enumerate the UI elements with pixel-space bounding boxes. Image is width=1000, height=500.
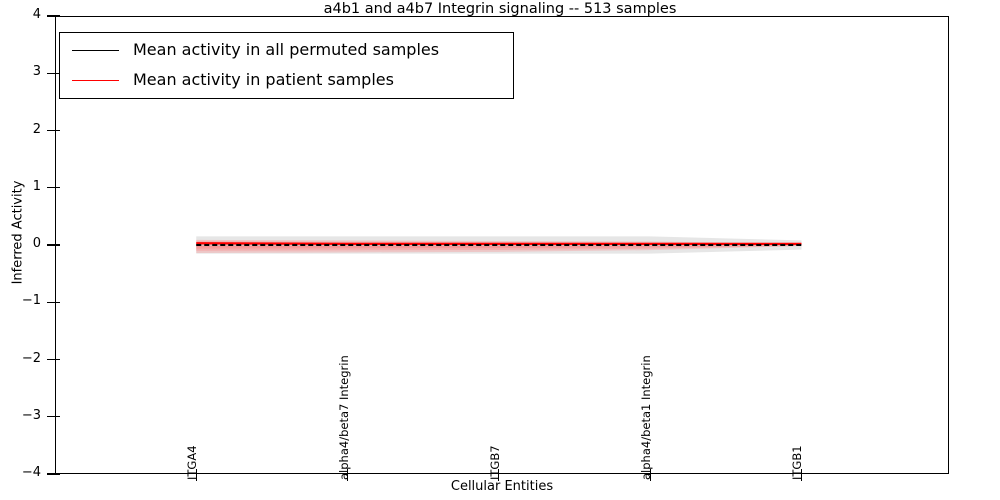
y-tick-label: 1 bbox=[33, 179, 41, 194]
y-tick-mark bbox=[47, 416, 55, 417]
y-tick-label: 2 bbox=[33, 122, 41, 137]
chart-figure: a4b1 and a4b7 Integrin signaling -- 513 … bbox=[0, 0, 1000, 500]
y-tick-mark bbox=[47, 73, 55, 74]
y-tick-mark bbox=[47, 473, 55, 474]
chart-title: a4b1 and a4b7 Integrin signaling -- 513 … bbox=[0, 0, 1000, 17]
y-tick-label: 0 bbox=[33, 236, 41, 251]
y-tick-mark bbox=[47, 244, 55, 245]
legend-label: Mean activity in all permuted samples bbox=[133, 40, 439, 59]
y-tick-mark-inner bbox=[55, 473, 60, 474]
y-tick-mark bbox=[47, 302, 55, 303]
y-tick-label: −1 bbox=[22, 293, 41, 308]
y-tick-label: −4 bbox=[22, 465, 41, 480]
x-axis-title: Cellular Entities bbox=[55, 479, 949, 494]
y-axis-title: Inferred Activity bbox=[11, 23, 26, 443]
legend-label: Mean activity in patient samples bbox=[133, 70, 394, 89]
legend-item: Mean activity in all permuted samples bbox=[60, 36, 513, 66]
chart-legend: Mean activity in all permuted samplesMea… bbox=[59, 32, 514, 99]
y-tick-label: 4 bbox=[33, 7, 41, 22]
y-tick-mark bbox=[47, 15, 55, 16]
y-tick-label: −3 bbox=[22, 408, 41, 423]
patient-mean-line bbox=[196, 243, 801, 244]
y-tick-label: 3 bbox=[33, 64, 41, 79]
y-tick-mark bbox=[47, 359, 55, 360]
y-tick-mark bbox=[47, 187, 55, 188]
y-tick-mark bbox=[47, 130, 55, 131]
legend-line-swatch bbox=[72, 50, 119, 51]
legend-item: Mean activity in patient samples bbox=[60, 66, 513, 96]
legend-line-swatch bbox=[72, 80, 119, 81]
y-tick-label: −2 bbox=[22, 351, 41, 366]
